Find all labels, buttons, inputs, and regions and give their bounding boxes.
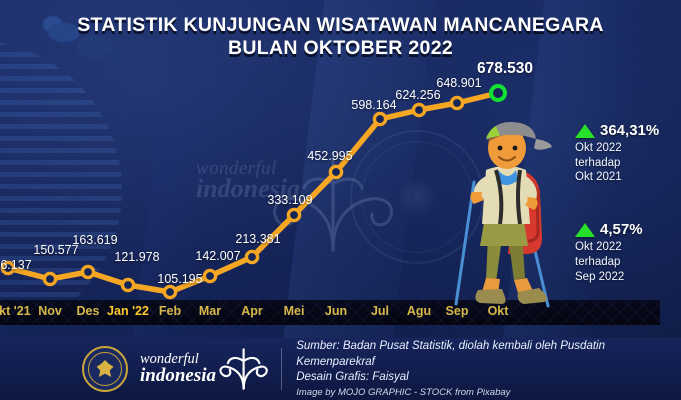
chart-marker[interactable] [451,97,462,108]
stat-percent: 364,31% [600,122,659,139]
stat-line-3: Sep 2022 [575,270,675,285]
designer-text: Desain Grafis: Faisyal [296,370,681,386]
trend-up-icon [575,223,595,237]
stat-card: 364,31%Okt 2022terhadapOkt 2021 [575,122,675,185]
x-axis-month-label: Nov [38,304,62,318]
garuda-emblem-icon [82,346,128,392]
stat-line-3: Okt 2021 [575,170,675,185]
stat-line-1: Okt 2022 [575,240,675,255]
statistics-panel: 364,31%Okt 2022terhadapOkt 20214,57%Okt … [575,122,675,320]
wonderful-indonesia-logo: wonderful indonesia [140,353,216,384]
chart-marker[interactable] [164,286,175,297]
footer-credits: Sumber: Badan Pusat Statistik, diolah ke… [296,339,681,399]
x-axis-month-label: Agu [407,304,431,318]
stat-line-2: terhadap [575,255,675,270]
chart-marker[interactable] [82,266,93,277]
chart-value-label: 333.109 [267,193,312,207]
x-axis-month-label: Mar [199,304,221,318]
chart-marker[interactable] [122,279,133,290]
footer-bar: wonderful indonesia Sumber: Badan Pusat … [0,338,681,400]
hiker-illustration [452,118,560,310]
chart-value-label: 598.164 [351,98,396,112]
stat-card: 4,57%Okt 2022terhadapSep 2022 [575,221,675,284]
chart-marker[interactable] [246,251,257,262]
stat-line-2: terhadap [575,156,675,171]
infographic-canvas: wonderful indonesia STATISTIK KUNJUNGAN … [0,0,681,400]
x-axis-month-label: Mei [284,304,305,318]
chart-value-label: 142.007 [195,249,240,263]
x-axis-month-label: Feb [159,304,181,318]
logo-indonesia: indonesia [140,367,216,385]
x-axis-month-label: Des [77,304,100,318]
chart-marker-latest[interactable] [491,86,505,100]
chart-marker[interactable] [330,166,341,177]
stat-description: Okt 2022terhadapSep 2022 [575,240,675,284]
footer-divider [281,348,282,390]
chart-marker[interactable] [288,209,299,220]
x-axis-month-label: Apr [241,304,263,318]
chart-value-label: 624.256 [395,88,440,102]
chart-value-label: 648.901 [436,76,481,90]
image-credit-text: Image by MOJO GRAPHIC - STOCK from Pixab… [296,386,681,399]
chart-value-label: 121.978 [114,250,159,264]
chart-marker[interactable] [204,270,215,281]
x-axis-month-label: Okt '21 [0,304,31,318]
chart-marker[interactable] [44,273,55,284]
chart-value-label: 452.995 [307,149,352,163]
chart-value-label: 6.137 [0,258,31,272]
chart-value-label: 678.530 [477,60,533,78]
ornamental-swirl-icon [218,347,269,391]
stat-line-1: Okt 2022 [575,141,675,156]
source-text: Sumber: Badan Pusat Statistik, diolah ke… [296,339,681,370]
chart-marker[interactable] [374,113,385,124]
trend-up-icon [575,124,595,138]
x-axis-month-label: Jan '22 [107,304,149,318]
stat-description: Okt 2022terhadapOkt 2021 [575,141,675,185]
chart-value-label: 105.195 [157,272,202,286]
x-axis-month-label: Jun [325,304,347,318]
chart-value-label: 213.381 [235,232,280,246]
chart-value-label: 163.619 [72,233,117,247]
stat-percent: 4,57% [600,221,643,238]
x-axis-month-label: Jul [371,304,389,318]
chart-marker[interactable] [413,104,424,115]
